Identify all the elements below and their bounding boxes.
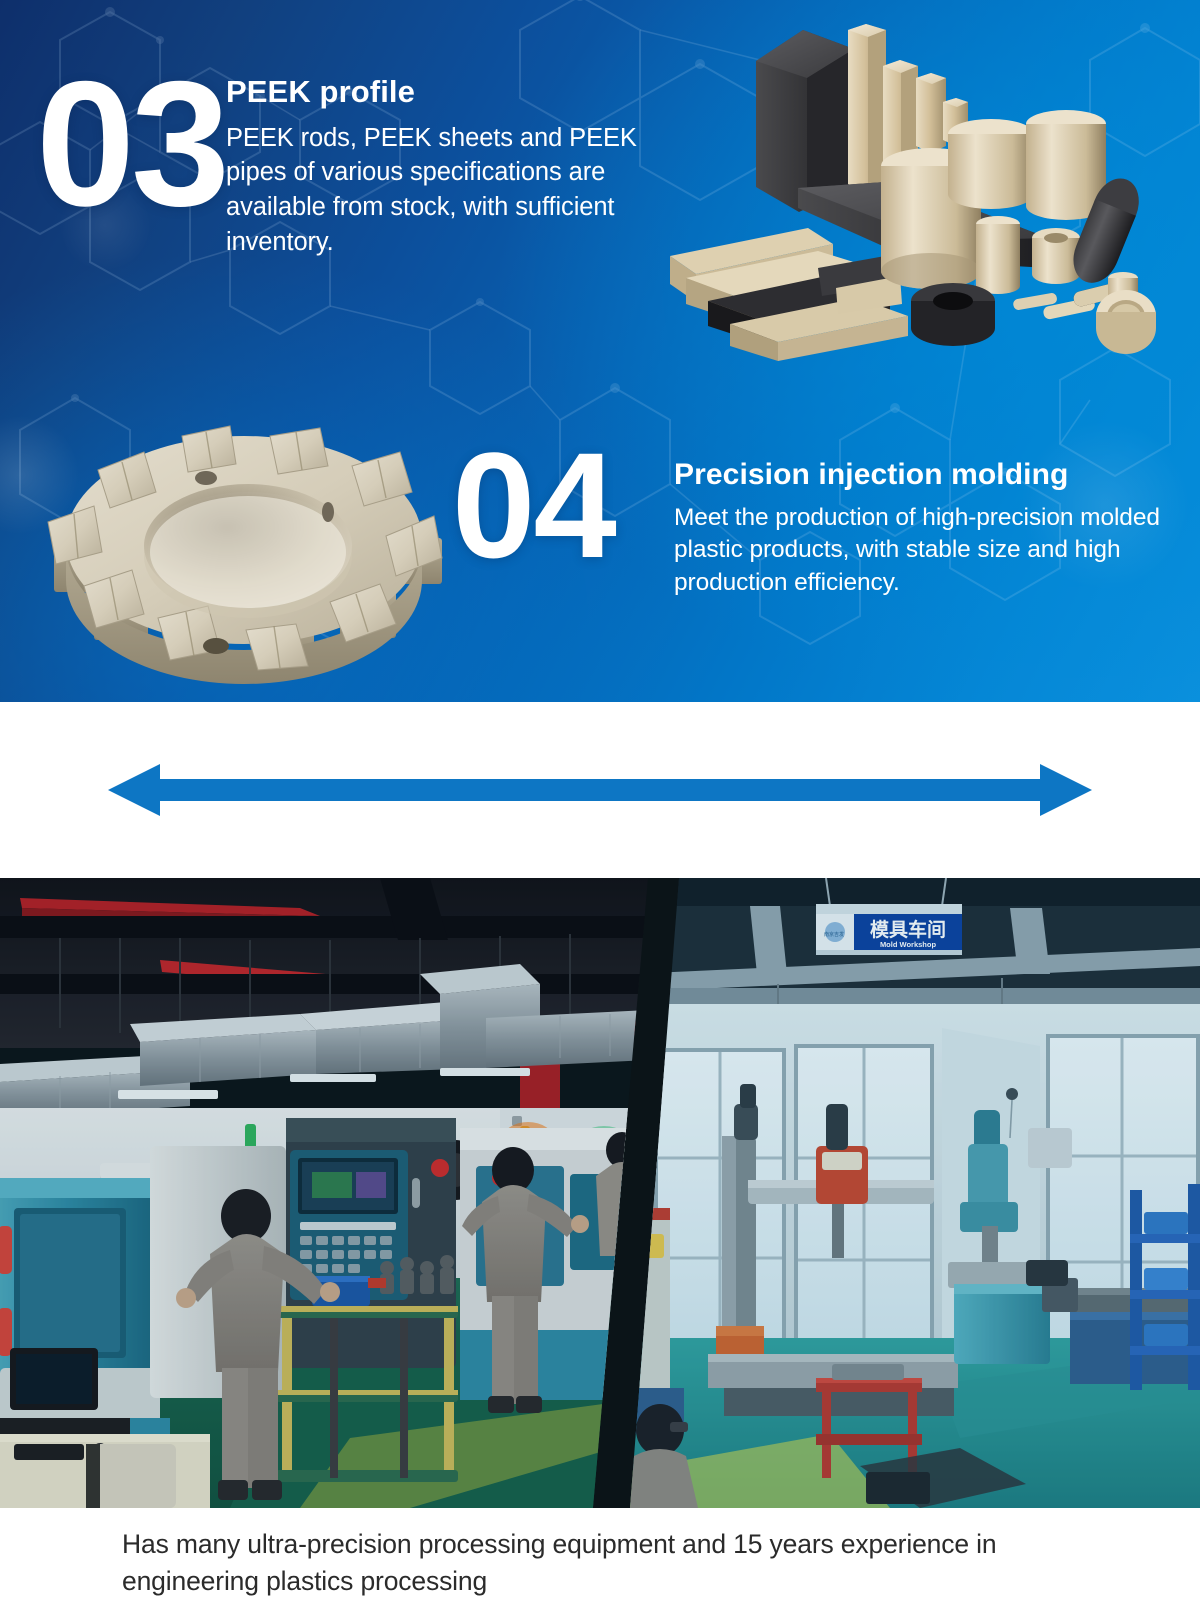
block-body-03: PEEK rods, PEEK sheets and PEEK pipes of… [226,121,674,260]
marketing-infographic-page: 03 PEEK profile PEEK rods, PEEK sheets a… [0,0,1200,1616]
double-arrow-icon [0,758,1200,822]
caption-text: Has many ultra-precision processing equi… [122,1526,1082,1599]
cnc-workshop-photo [0,878,648,1508]
workshop-photo-strip: 南京吉发 模具车间 Mold Workshop [0,878,1200,1508]
block-title-03: PEEK profile [226,74,674,110]
hero-block-04: 04 Precision injection molding Meet the … [452,432,1192,662]
peek-gear-ring-image [34,400,454,685]
block-title-04: Precision injection molding [674,458,1194,493]
block-number-04: 04 [452,438,615,573]
block-body-04: Meet the production of high-precision mo… [674,502,1194,600]
our-strengths-banner: Our strengths [0,702,1200,878]
peek-profiles-image [668,16,1192,366]
bottom-caption: Has many ultra-precision processing equi… [0,1508,1200,1616]
hero-block-03: 03 PEEK profile PEEK rods, PEEK sheets a… [18,62,678,332]
mold-workshop-photo: 南京吉发 模具车间 Mold Workshop [630,878,1200,1508]
hero-blue-panel: 03 PEEK profile PEEK rods, PEEK sheets a… [0,0,1200,702]
block-number-03: 03 [36,64,226,224]
